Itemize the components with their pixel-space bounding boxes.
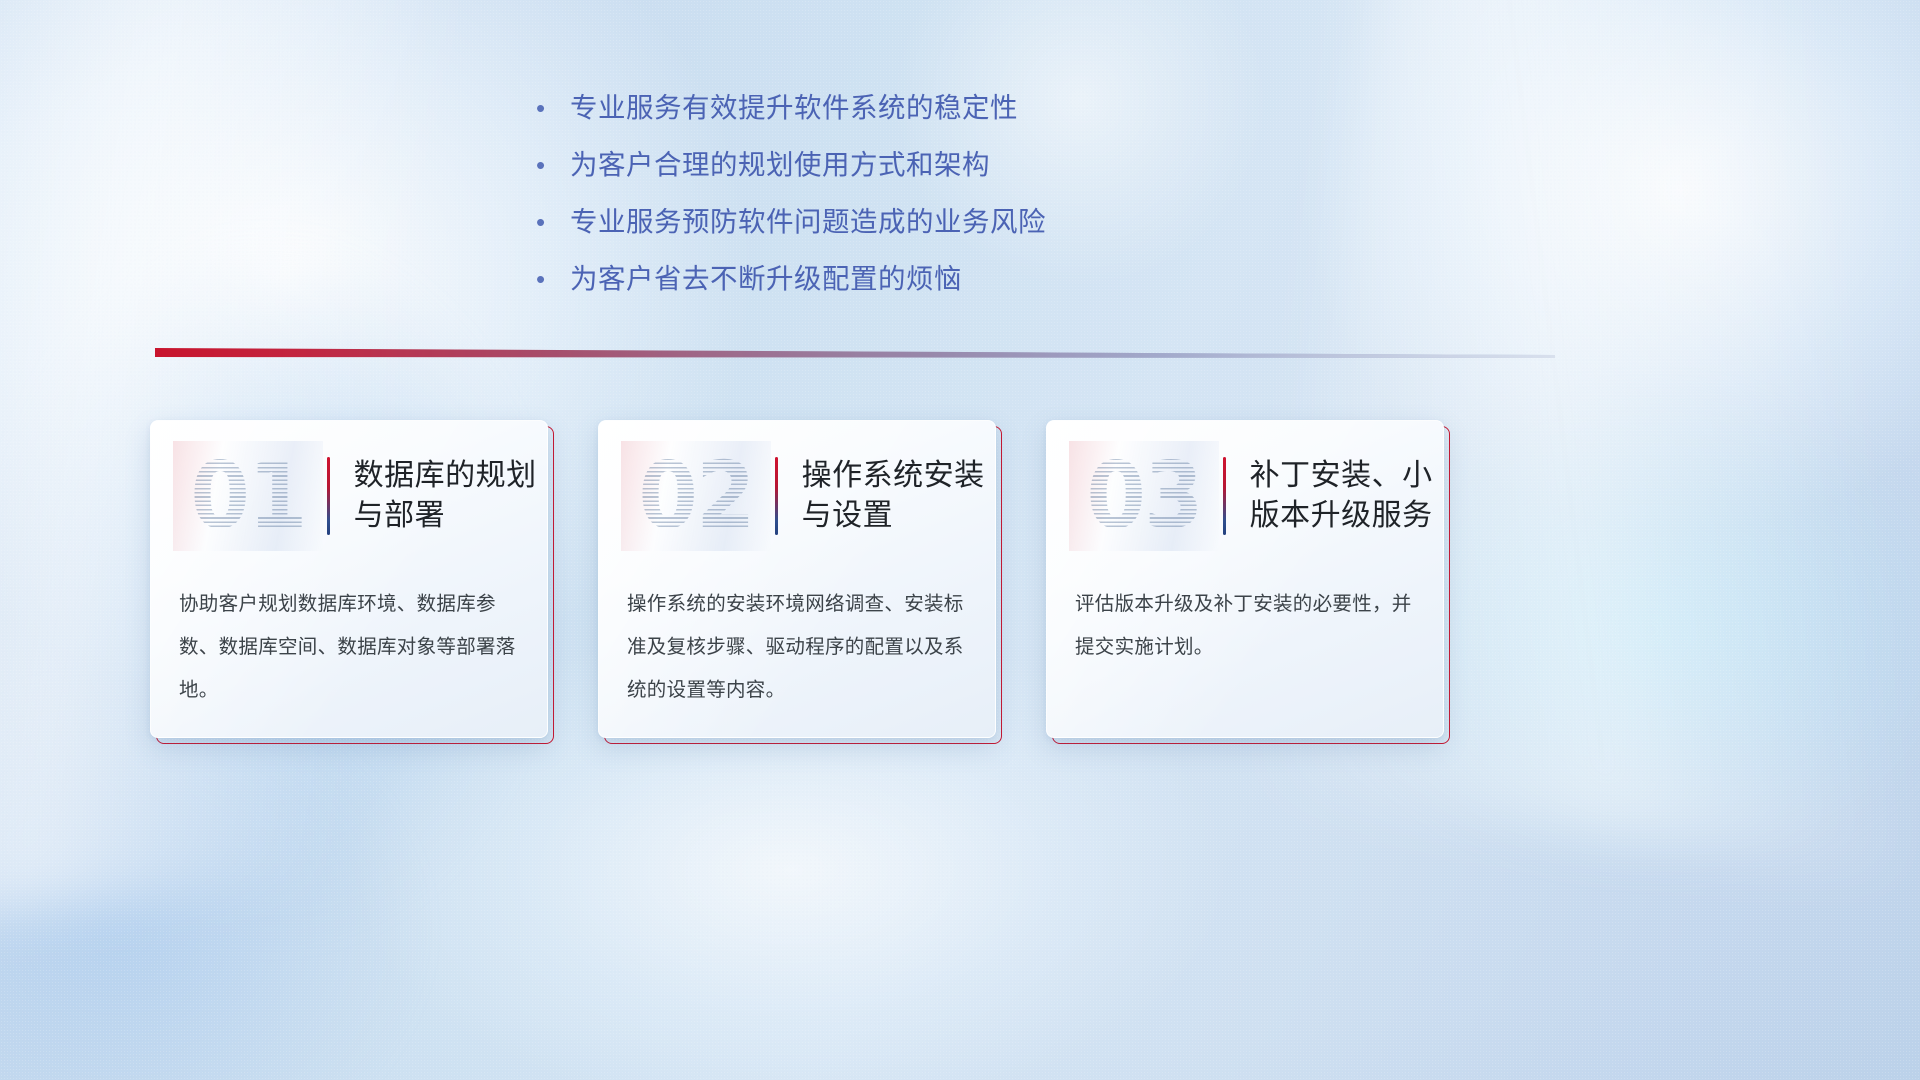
- card-divider-bar: [1223, 457, 1226, 535]
- bullet-text: 为客户合理的规划使用方式和架构: [570, 145, 990, 185]
- card-divider-bar: [327, 457, 330, 535]
- service-card-01[interactable]: 01 数据库的规划与部署 协助客户规划数据库环境、数据库参数、数据库空间、数据库…: [150, 420, 550, 742]
- bullet-text: 为客户省去不断升级配置的烦恼: [570, 259, 962, 299]
- bullet-marker-icon: •: [536, 145, 570, 185]
- card-surface: 02 操作系统安装与设置 操作系统的安装环境网络调查、安装标准及复核步骤、驱动程…: [598, 420, 996, 738]
- card-surface: 03 补丁安装、小版本升级服务 评估版本升级及补丁安装的必要性，并提交实施计划。: [1046, 420, 1444, 738]
- bullet-text: 专业服务预防软件问题造成的业务风险: [570, 202, 1046, 242]
- card-header: 03 补丁安装、小版本升级服务: [1047, 437, 1443, 555]
- bullet-text: 专业服务有效提升软件系统的稳定性: [570, 88, 1018, 128]
- card-title: 数据库的规划与部署: [354, 456, 544, 536]
- card-number-badge: 03: [1069, 441, 1219, 551]
- service-card-03[interactable]: 03 补丁安装、小版本升级服务 评估版本升级及补丁安装的必要性，并提交实施计划。: [1046, 420, 1446, 742]
- card-title: 补丁安装、小版本升级服务: [1250, 456, 1440, 536]
- bullet-marker-icon: •: [536, 259, 570, 299]
- card-header: 01 数据库的规划与部署: [151, 437, 547, 555]
- section-divider: [155, 346, 1555, 366]
- card-description: 操作系统的安装环境网络调查、安装标准及复核步骤、驱动程序的配置以及系统的设置等内…: [627, 583, 972, 712]
- bullet-item: • 为客户省去不断升级配置的烦恼: [536, 259, 1156, 299]
- card-number-badge: 01: [173, 441, 323, 551]
- service-cards: 01 数据库的规划与部署 协助客户规划数据库环境、数据库参数、数据库空间、数据库…: [150, 420, 1770, 750]
- bullet-marker-icon: •: [536, 88, 570, 128]
- card-header: 02 操作系统安装与设置: [599, 437, 995, 555]
- card-number-text: 02: [638, 450, 753, 542]
- card-description: 评估版本升级及补丁安装的必要性，并提交实施计划。: [1075, 583, 1420, 669]
- card-number-text: 03: [1086, 450, 1201, 542]
- card-number-text: 01: [190, 450, 305, 542]
- card-divider-bar: [775, 457, 778, 535]
- card-title: 操作系统安装与设置: [802, 456, 992, 536]
- service-card-02[interactable]: 02 操作系统安装与设置 操作系统的安装环境网络调查、安装标准及复核步骤、驱动程…: [598, 420, 998, 742]
- card-description: 协助客户规划数据库环境、数据库参数、数据库空间、数据库对象等部署落地。: [179, 583, 524, 712]
- bullet-item: • 专业服务预防软件问题造成的业务风险: [536, 202, 1156, 242]
- bullet-item: • 为客户合理的规划使用方式和架构: [536, 145, 1156, 185]
- bullet-marker-icon: •: [536, 202, 570, 242]
- benefits-bullet-list: • 专业服务有效提升软件系统的稳定性 • 为客户合理的规划使用方式和架构 • 专…: [536, 88, 1156, 316]
- card-surface: 01 数据库的规划与部署 协助客户规划数据库环境、数据库参数、数据库空间、数据库…: [150, 420, 548, 738]
- bullet-item: • 专业服务有效提升软件系统的稳定性: [536, 88, 1156, 128]
- card-number-badge: 02: [621, 441, 771, 551]
